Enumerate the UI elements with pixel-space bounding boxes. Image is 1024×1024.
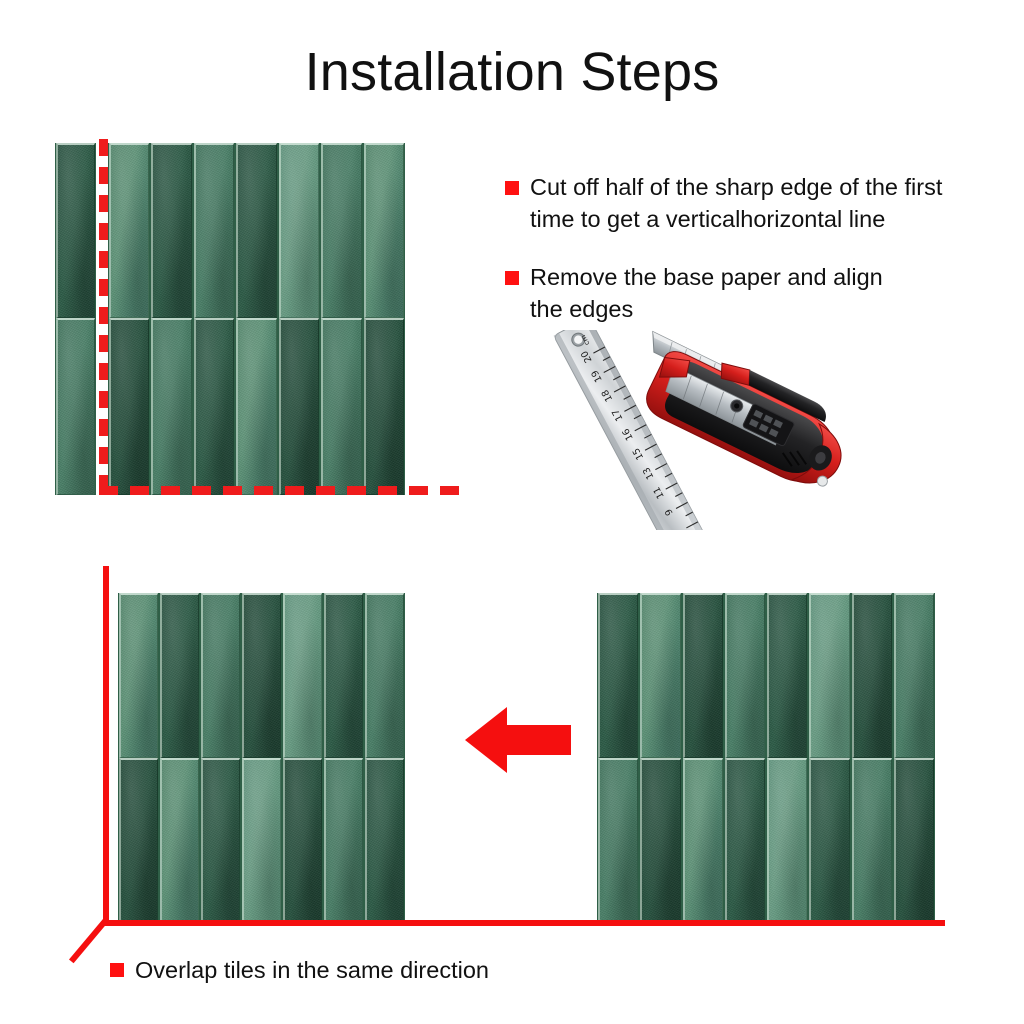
tile xyxy=(852,593,892,758)
align-guide-horizontal-solid xyxy=(103,920,945,926)
tile xyxy=(151,318,191,495)
step-2-text: Remove the base paper and align the edge… xyxy=(530,262,910,326)
tile xyxy=(160,758,199,923)
tile-row xyxy=(597,593,935,758)
tile xyxy=(201,593,240,758)
tile xyxy=(236,143,276,318)
steps-list: Cut off half of the sharp edge of the fi… xyxy=(505,172,985,348)
tile xyxy=(283,758,322,923)
bullet-square-icon xyxy=(505,271,519,285)
tile xyxy=(364,318,404,495)
step-1-text: Cut off half of the sharp edge of the fi… xyxy=(530,172,985,236)
tile-row xyxy=(597,758,935,923)
tile-row xyxy=(108,143,405,318)
tile xyxy=(364,143,404,318)
offcut-row-bottom xyxy=(55,318,96,495)
infographic-canvas: Installation Steps xyxy=(0,0,1024,1024)
tile xyxy=(598,758,638,923)
tile xyxy=(324,758,363,923)
tile xyxy=(56,318,95,495)
tile xyxy=(598,593,638,758)
tile-row xyxy=(118,593,405,758)
tile xyxy=(109,143,149,318)
tile xyxy=(683,593,723,758)
align-guide-vertical-solid xyxy=(103,566,109,923)
tile xyxy=(767,593,807,758)
tile-row xyxy=(108,318,405,495)
tile xyxy=(640,758,680,923)
tile xyxy=(809,593,849,758)
page-title: Installation Steps xyxy=(0,44,1024,101)
panel-source-sheet xyxy=(597,593,935,923)
bullet-square-icon xyxy=(110,963,124,977)
tile xyxy=(56,143,95,318)
tile xyxy=(279,318,319,495)
tile xyxy=(640,593,680,758)
cut-guide-horizontal-dashed xyxy=(99,486,467,495)
panel-cut-demo xyxy=(108,143,405,495)
tile xyxy=(321,318,361,495)
caption-text: Overlap tiles in the same direction xyxy=(135,955,489,986)
arrow-left-svg xyxy=(463,703,573,777)
tools-svg: 20 19 18 17 16 15 13 11 9 7 cm xyxy=(545,330,885,530)
bullet-square-icon xyxy=(505,181,519,195)
caption-overlap-direction: Overlap tiles in the same direction xyxy=(110,955,489,986)
tile xyxy=(809,758,849,923)
tile xyxy=(151,143,191,318)
tile xyxy=(725,758,765,923)
tile xyxy=(160,593,199,758)
tile xyxy=(365,758,404,923)
cut-guide-vertical-dashed xyxy=(99,139,108,495)
tile xyxy=(236,318,276,495)
tools-illustration: 20 19 18 17 16 15 13 11 9 7 cm xyxy=(545,330,885,530)
tile-row xyxy=(118,758,405,923)
tile xyxy=(321,143,361,318)
tile xyxy=(324,593,363,758)
tile xyxy=(119,593,158,758)
step-item: Cut off half of the sharp edge of the fi… xyxy=(505,172,985,236)
step-item: Remove the base paper and align the edge… xyxy=(505,262,985,326)
tile xyxy=(109,318,149,495)
tile xyxy=(725,593,765,758)
tile xyxy=(894,758,934,923)
offcut-row-top xyxy=(55,143,96,318)
tile xyxy=(119,758,158,923)
tile xyxy=(852,758,892,923)
tile xyxy=(201,758,240,923)
tile xyxy=(683,758,723,923)
tile xyxy=(242,593,281,758)
tile xyxy=(894,593,934,758)
tile xyxy=(365,593,404,758)
tile xyxy=(283,593,322,758)
tile xyxy=(194,143,234,318)
panel-aligned-result xyxy=(118,593,405,923)
tile xyxy=(767,758,807,923)
tile xyxy=(242,758,281,923)
tile xyxy=(279,143,319,318)
tile xyxy=(194,318,234,495)
offcut-tile-column xyxy=(55,143,96,495)
arrow-left-icon xyxy=(463,703,573,777)
